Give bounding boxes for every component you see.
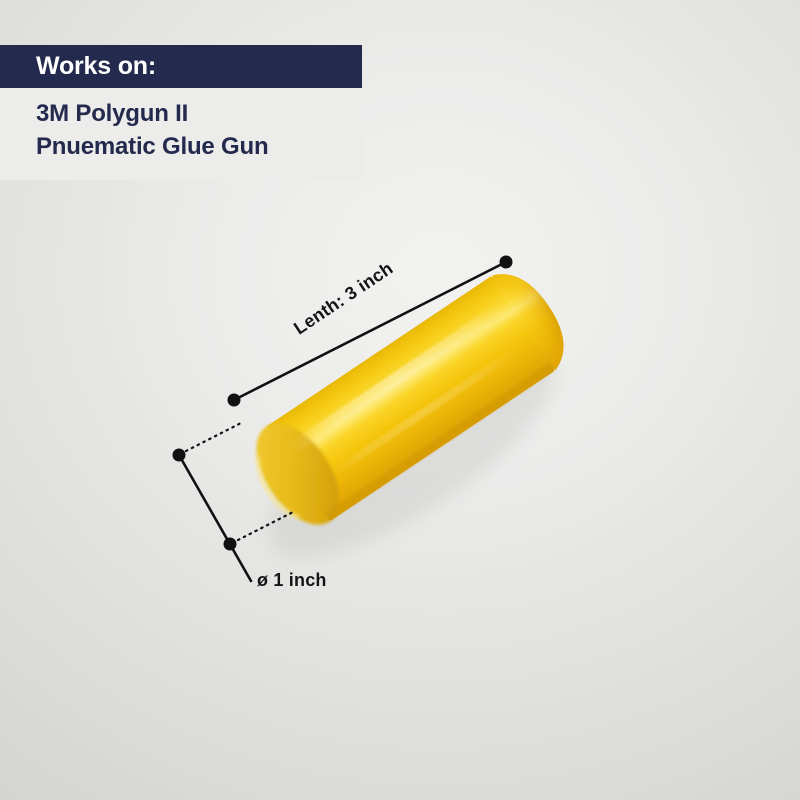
banner-line-2: Pnuematic Glue Gun	[36, 131, 354, 164]
diameter-annotation-label: ø 1 inch	[257, 570, 327, 591]
diameter-dimension-line	[173, 422, 296, 581]
product-image: Works on: 3M Polygun II Pnuematic Glue G…	[0, 0, 800, 800]
length-annotation-label: Lenth: 3 inch	[290, 258, 397, 339]
works-on-banner: Works on: 3M Polygun II Pnuematic Glue G…	[0, 45, 364, 180]
product-shadow	[240, 310, 584, 593]
banner-line-1: 3M Polygun II	[36, 98, 354, 131]
banner-body: 3M Polygun II Pnuematic Glue Gun	[0, 88, 364, 180]
banner-header-text: Works on:	[36, 54, 156, 79]
banner-header: Works on:	[0, 45, 362, 88]
glue-stick-body	[237, 259, 580, 541]
